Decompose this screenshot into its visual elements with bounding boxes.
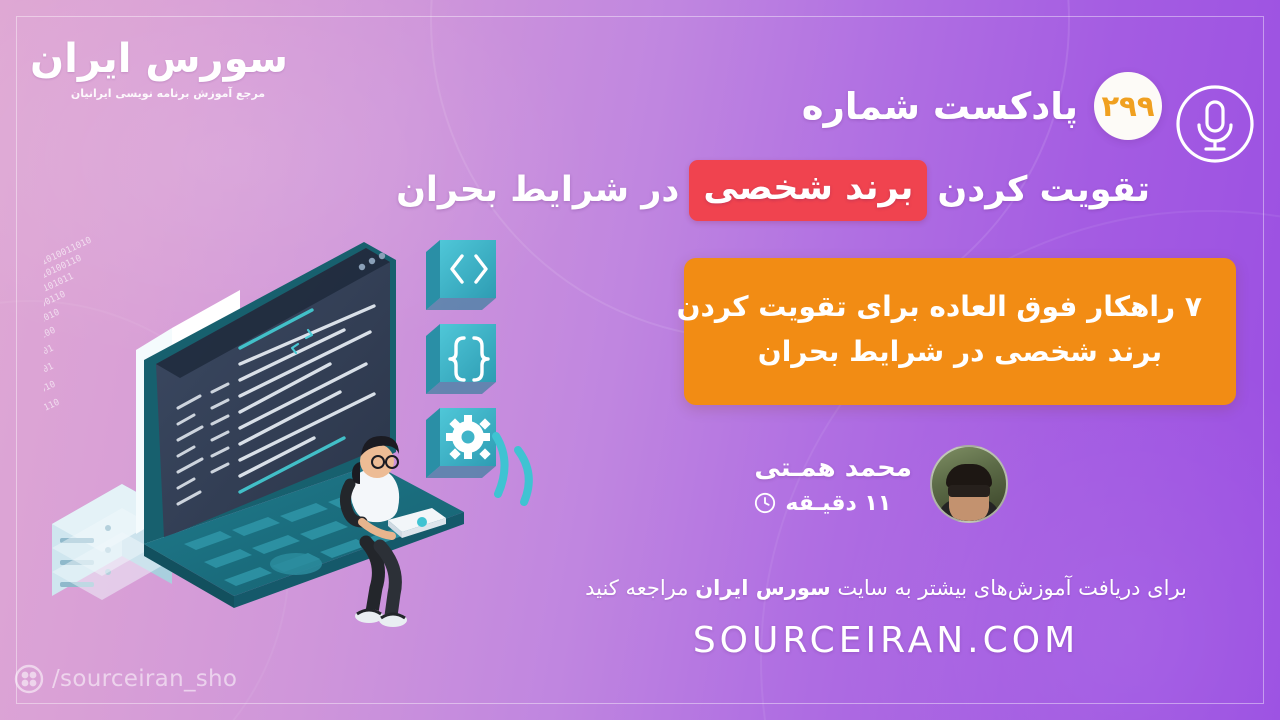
watermark-handle: /sourceiran_sho [52,666,237,692]
clock-icon [754,492,776,514]
headline-highlight: برند شخصی [689,160,927,221]
badge-code-tag [426,240,496,310]
podcast-number-badge: ۲۹۹ [1094,72,1162,140]
page-title: تقویت کردن برند شخصی در شرایط بحران [396,160,1150,221]
watermark: /sourceiran_sho [14,664,237,694]
footer-cta-brand: سورس ایران [695,576,830,600]
svg-text:1001010011010100110: 1001010011010100110 [44,398,61,451]
subject-line-1: ۷ راهکار فوق العاده برای تقویت کردن [718,284,1202,329]
binary-digits: 0101001101010011010 1001010011010100110 … [44,236,93,451]
badge-curly-braces [426,324,496,394]
author-text: محمد همـتی ۱۱ دقیـقه [754,453,912,516]
author-name: محمد همـتی [754,453,912,483]
microphone-icon [1174,83,1256,165]
subject-line-2: برند شخصی در شرایط بحران [718,329,1202,374]
subject-card: ۷ راهکار فوق العاده برای تقویت کردن برند… [684,258,1236,405]
footer-cta: برای دریافت آموزش‌های بیشتر به سایت سورس… [536,576,1236,600]
avatar-sunglasses [948,485,990,497]
podcast-header: ۲۹۹ پادکست شماره [802,72,1162,140]
leaf-accent [496,436,529,502]
brand-tagline: مرجع آموزش برنامه نویسی ایرانیان [48,87,288,100]
podcast-cover: 0101001101010011010 1001010011010100110 … [0,0,1280,720]
duration-value: ۱۱ دقیـقه [785,491,891,516]
headline-part-before: تقویت کردن [937,167,1150,214]
footer-cta-after: مراجعه کنید [585,576,688,600]
brand-wordmark: سورس ایران [48,38,288,80]
author-duration: ۱۱ دقیـقه [754,491,912,516]
podcast-label: پادکست شماره [802,85,1078,128]
isometric-programmer-illustration: 0101001101010011010 1001010011010100110 … [44,212,544,642]
badge-gear [426,408,496,478]
brand-logo: سورس ایران مرجع آموزش برنامه نویسی ایران… [48,38,288,100]
author-block: محمد همـتی ۱۱ دقیـقه [754,445,1008,523]
footer-cta-before: برای دریافت آموزش‌های بیشتر به سایت [837,576,1187,600]
aparat-icon [14,664,44,694]
avatar [930,445,1008,523]
footer-url: SOURCEIRAN.COM [536,620,1236,661]
headline-part-after: در شرایط بحران [396,167,679,214]
